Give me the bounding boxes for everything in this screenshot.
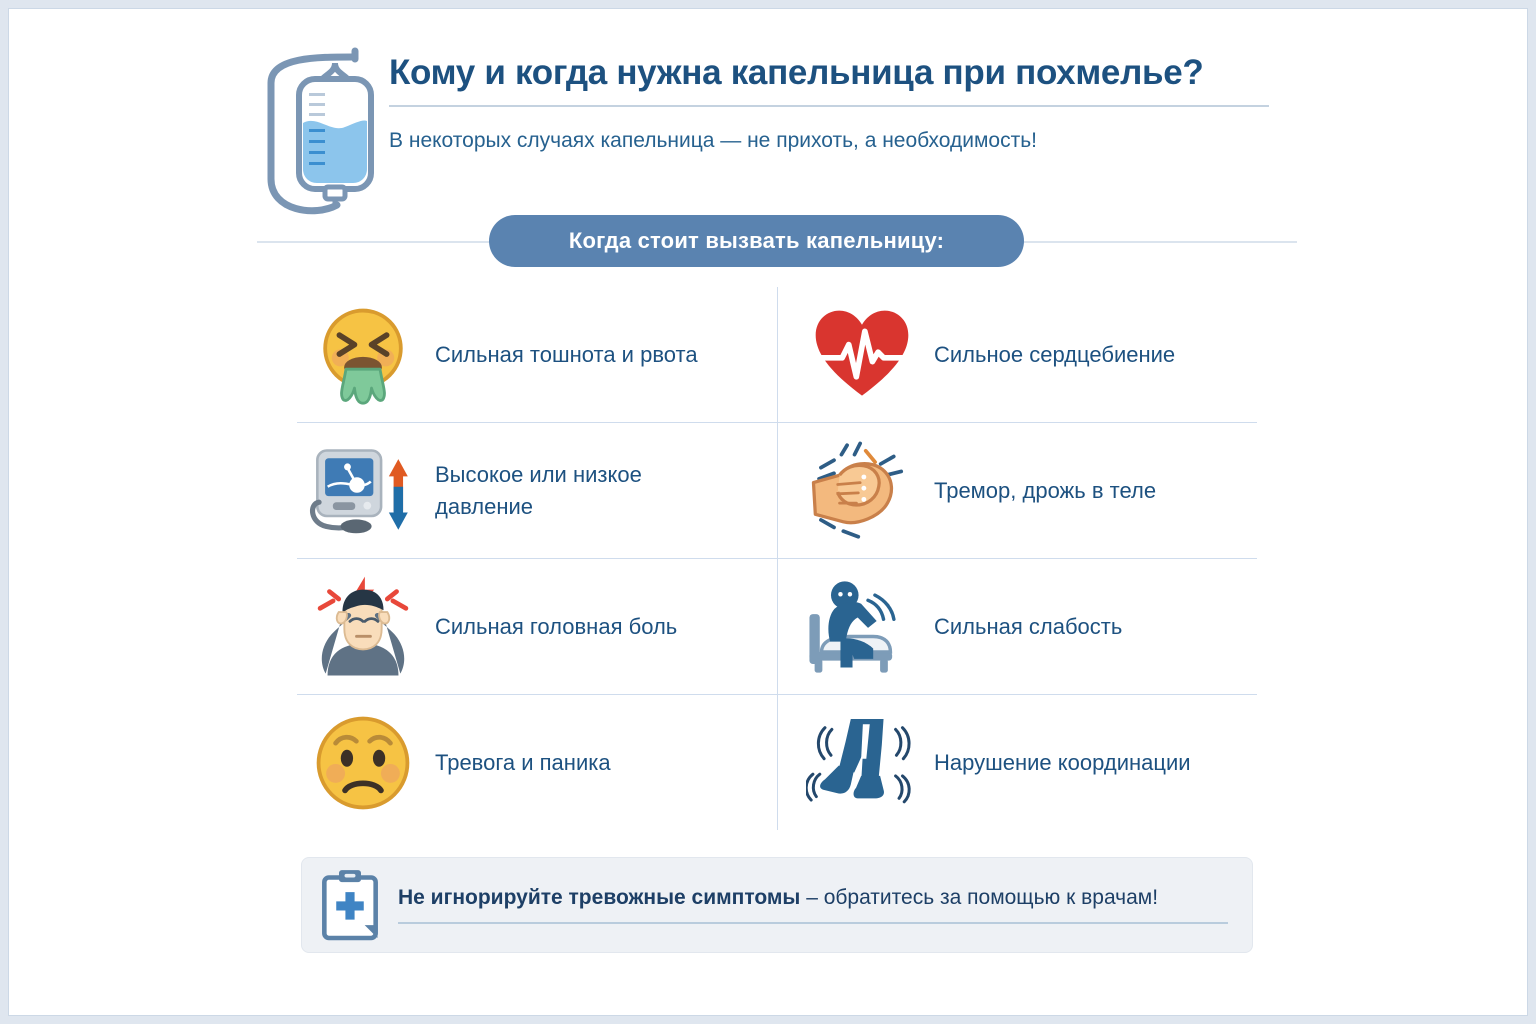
person-sitting-on-bed-icon	[806, 572, 918, 682]
symptom-label: Сильная головная боль	[419, 611, 677, 643]
symptom-label: Тремор, дрожь в теле	[918, 475, 1156, 507]
headache-person-icon	[307, 572, 419, 682]
page-subtitle: В некоторых случаях капельница — не прих…	[389, 129, 1297, 153]
symptom-label: Сильная слабость	[918, 611, 1122, 643]
symptom-item-coordination: Нарушение координации	[777, 695, 1257, 830]
nauseated-vomiting-face-icon	[307, 300, 419, 410]
symptom-grid: Сильная тошнота и рвота Сильное сердцеби…	[297, 287, 1257, 827]
page-title-accent: при похмелье	[943, 53, 1183, 92]
symptom-item-tremor: Тремор, дрожь в теле	[777, 423, 1257, 558]
symptom-label: Сильное сердцебиение	[918, 339, 1175, 371]
banner-section: Когда стоит вызвать капельницу:	[257, 215, 1297, 269]
page-title-question-mark: ?	[1182, 53, 1203, 92]
footer-divider	[398, 922, 1228, 924]
symptom-item-headache: Сильная головная боль	[297, 559, 777, 694]
blood-pressure-monitor-icon	[307, 436, 419, 546]
footer-body: Не игнорируйте тревожные симптомы – обра…	[398, 886, 1252, 924]
footer-text: Не игнорируйте тревожные симптомы – обра…	[398, 886, 1228, 910]
grid-row: Высокое или низкое давление	[297, 422, 1257, 558]
footer-text-rest: – обратитесь за помощью к врачам!	[800, 886, 1158, 909]
footer-callout: Не игнорируйте тревожные симптомы – обра…	[301, 857, 1253, 953]
grid-row: Сильная тошнота и рвота Сильное сердцеби…	[297, 287, 1257, 422]
header: Кому и когда нужна капельница при похмел…	[257, 41, 1297, 221]
symptom-item-blood-pressure: Высокое или низкое давление	[297, 423, 777, 558]
section-banner: Когда стоит вызвать капельницу:	[489, 215, 1024, 267]
infographic-card: Кому и когда нужна капельница при похмел…	[8, 8, 1528, 1016]
symptom-item-nausea: Сильная тошнота и рвота	[297, 287, 777, 422]
page-title: Кому и когда нужна капельница при похмел…	[389, 53, 1297, 93]
iv-drip-bag-icon	[257, 41, 377, 221]
header-text-block: Кому и когда нужна капельница при похмел…	[389, 41, 1297, 153]
symptom-item-anxiety: Тревога и паника	[297, 695, 777, 830]
wobbly-legs-icon	[806, 708, 918, 818]
title-divider	[389, 105, 1269, 107]
grid-row: Сильная головная боль	[297, 558, 1257, 694]
symptom-label: Сильная тошнота и рвота	[419, 339, 698, 371]
worried-face-icon	[307, 708, 419, 818]
heart-pulse-icon	[806, 300, 918, 410]
page-title-main: Кому и когда нужна капельница	[389, 53, 933, 92]
footer-text-bold: Не игнорируйте тревожные симптомы	[398, 886, 800, 909]
grid-row: Тревога и паника	[297, 694, 1257, 830]
symptom-label: Нарушение координации	[918, 747, 1191, 779]
medical-clipboard-icon	[302, 865, 398, 945]
symptom-item-palpitations: Сильное сердцебиение	[777, 287, 1257, 422]
symptom-label: Высокое или низкое давление	[419, 459, 735, 523]
symptom-label: Тревога и паника	[419, 747, 611, 779]
symptom-item-weakness: Сильная слабость	[777, 559, 1257, 694]
shaking-hands-tremor-icon	[806, 436, 918, 546]
